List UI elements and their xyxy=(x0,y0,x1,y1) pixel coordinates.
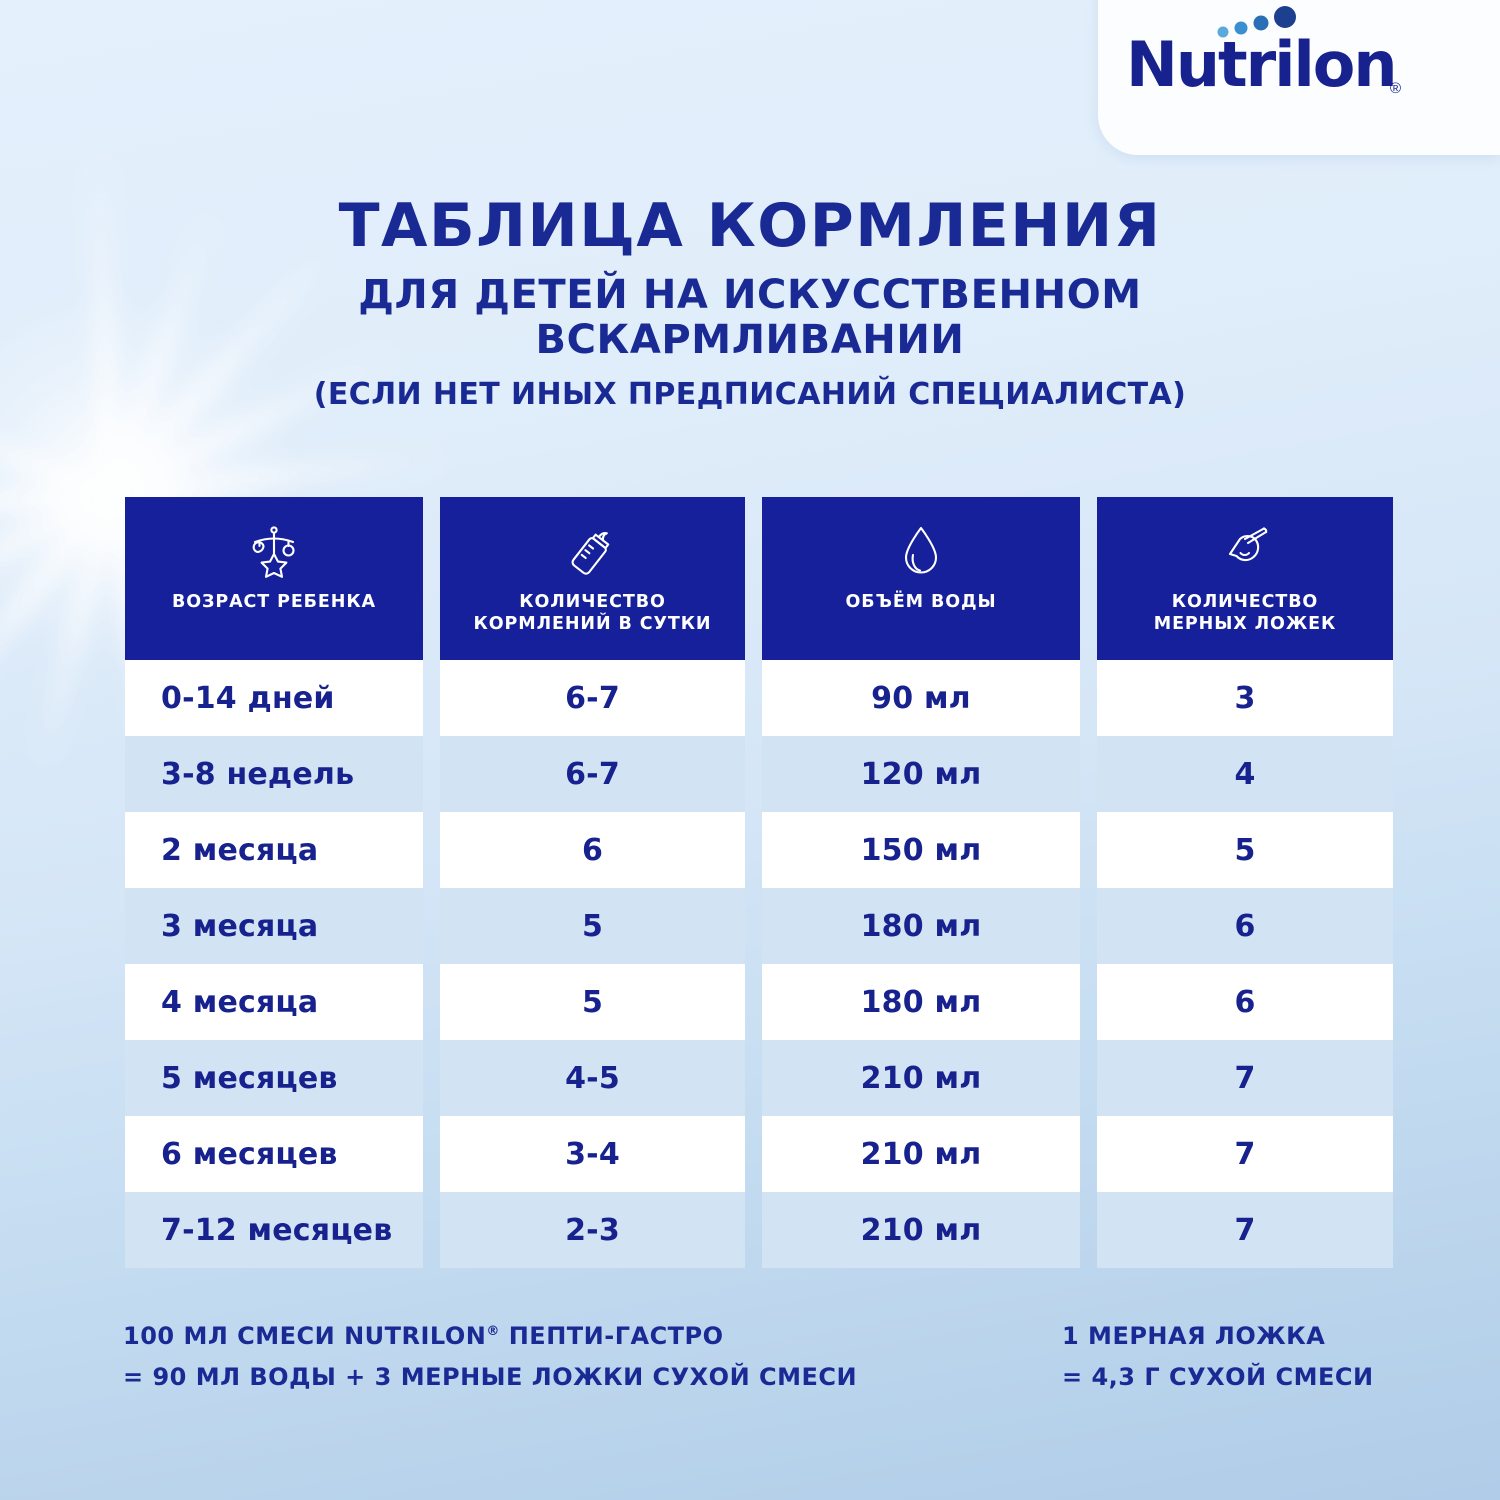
water-drop-icon xyxy=(892,519,950,583)
cell-feedings: 6-7 xyxy=(440,736,745,812)
column-header-feedings-label: КОЛИЧЕСТВО КОРМЛЕНИЙ В СУТКИ xyxy=(474,591,712,636)
cell-water: 150 мл xyxy=(762,812,1080,888)
column-header-water: ОБЪЁМ ВОДЫ xyxy=(762,497,1080,660)
table-row: 6 месяцев3-4210 мл7 xyxy=(125,1116,1376,1192)
cell-age: 2 месяца xyxy=(125,812,423,888)
page-title-note: (ЕСЛИ НЕТ ИНЫХ ПРЕДПИСАНИЙ СПЕЦИАЛИСТА) xyxy=(0,377,1500,412)
baby-bottle-icon xyxy=(564,519,622,583)
feeding-table-infographic: Nutrilon ® ТАБЛИЦА КОРМЛЕНИЯ ДЛЯ ДЕТЕЙ Н… xyxy=(0,0,1500,1500)
cell-feedings: 6-7 xyxy=(440,660,745,736)
cell-age: 6 месяцев xyxy=(125,1116,423,1192)
column-gap xyxy=(423,1116,440,1192)
column-header-water-label: ОБЪЁМ ВОДЫ xyxy=(845,591,996,613)
table-header-row: ВОЗРАСТ РЕБЕНКА xyxy=(125,497,1376,660)
column-gap xyxy=(423,964,440,1040)
footer-left-line1-a: 100 МЛ СМЕСИ NUTRILON xyxy=(123,1322,486,1350)
footer-notes: 100 МЛ СМЕСИ NUTRILON® ПЕПТИ-ГАСТРО = 90… xyxy=(0,1316,1500,1426)
cell-feedings: 2-3 xyxy=(440,1192,745,1268)
table-row: 7-12 месяцев2-3210 мл7 xyxy=(125,1192,1376,1268)
cell-water: 210 мл xyxy=(762,1040,1080,1116)
cell-water: 180 мл xyxy=(762,964,1080,1040)
page-subtitle-line1: ДЛЯ ДЕТЕЙ НА ИСКУССТВЕННОМ xyxy=(0,273,1500,318)
column-gap xyxy=(1080,888,1097,964)
column-gap xyxy=(423,1040,440,1116)
column-gap xyxy=(423,812,440,888)
feeding-table: ВОЗРАСТ РЕБЕНКА xyxy=(125,497,1376,1268)
footer-left-line1-b: ПЕПТИ-ГАСТРО xyxy=(500,1322,724,1350)
cell-scoops: 6 xyxy=(1097,964,1393,1040)
column-header-age: ВОЗРАСТ РЕБЕНКА xyxy=(125,497,423,660)
cell-water: 90 мл xyxy=(762,660,1080,736)
table-row: 3 месяца5180 мл6 xyxy=(125,888,1376,964)
cell-scoops: 7 xyxy=(1097,1040,1393,1116)
column-gap xyxy=(423,1192,440,1268)
column-gap xyxy=(745,1040,762,1116)
column-gap xyxy=(423,660,440,736)
column-gap xyxy=(423,736,440,812)
cell-scoops: 7 xyxy=(1097,1116,1393,1192)
cell-age: 5 месяцев xyxy=(125,1040,423,1116)
page-subtitle-line2: ВСКАРМЛИВАНИИ xyxy=(0,318,1500,363)
cell-scoops: 7 xyxy=(1097,1192,1393,1268)
table-row: 2 месяца6150 мл5 xyxy=(125,812,1376,888)
column-gap xyxy=(745,1116,762,1192)
column-gap xyxy=(1080,1116,1097,1192)
footer-left-line1: 100 МЛ СМЕСИ NUTRILON® ПЕПТИ-ГАСТРО xyxy=(123,1316,857,1357)
cell-age: 0-14 дней xyxy=(125,660,423,736)
column-header-feedings: КОЛИЧЕСТВО КОРМЛЕНИЙ В СУТКИ xyxy=(440,497,745,660)
footer-note-left: 100 МЛ СМЕСИ NUTRILON® ПЕПТИ-ГАСТРО = 90… xyxy=(123,1316,857,1399)
footer-left-registered-mark: ® xyxy=(486,1324,500,1339)
table-row: 4 месяца5180 мл6 xyxy=(125,964,1376,1040)
column-header-age-label: ВОЗРАСТ РЕБЕНКА xyxy=(172,591,376,613)
cell-scoops: 4 xyxy=(1097,736,1393,812)
column-gap xyxy=(1080,812,1097,888)
title-block: ТАБЛИЦА КОРМЛЕНИЯ ДЛЯ ДЕТЕЙ НА ИСКУССТВЕ… xyxy=(0,196,1500,412)
cell-age: 3-8 недель xyxy=(125,736,423,812)
column-gap xyxy=(1080,660,1097,736)
column-gap xyxy=(1080,1192,1097,1268)
cell-scoops: 5 xyxy=(1097,812,1393,888)
brand-registered-mark: ® xyxy=(1390,80,1401,97)
cell-age: 3 месяца xyxy=(125,888,423,964)
page-title: ТАБЛИЦА КОРМЛЕНИЯ xyxy=(0,196,1500,257)
column-gap xyxy=(745,1192,762,1268)
footer-right-line2: = 4,3 Г СУХОЙ СМЕСИ xyxy=(1062,1357,1374,1398)
cell-age: 7-12 месяцев xyxy=(125,1192,423,1268)
footer-left-line2: = 90 МЛ ВОДЫ + 3 МЕРНЫЕ ЛОЖКИ СУХОЙ СМЕС… xyxy=(123,1357,857,1398)
cell-age: 4 месяца xyxy=(125,964,423,1040)
column-gap xyxy=(745,736,762,812)
column-header-scoops-label: КОЛИЧЕСТВО МЕРНЫХ ЛОЖЕК xyxy=(1154,591,1336,636)
column-gap xyxy=(745,964,762,1040)
footer-right-line1: 1 МЕРНАЯ ЛОЖКА xyxy=(1062,1316,1374,1357)
column-gap xyxy=(745,660,762,736)
table-body: 0-14 дней6-790 мл33-8 недель6-7120 мл42 … xyxy=(125,660,1376,1268)
column-gap xyxy=(423,888,440,964)
table-row: 3-8 недель6-7120 мл4 xyxy=(125,736,1376,812)
cell-water: 120 мл xyxy=(762,736,1080,812)
cell-feedings: 6 xyxy=(440,812,745,888)
cell-feedings: 5 xyxy=(440,888,745,964)
cell-scoops: 3 xyxy=(1097,660,1393,736)
column-gap xyxy=(1080,736,1097,812)
brand-logo-panel: Nutrilon ® xyxy=(1098,0,1500,155)
column-gap xyxy=(745,888,762,964)
brand-name: Nutrilon xyxy=(1126,34,1395,96)
cell-water: 180 мл xyxy=(762,888,1080,964)
cell-feedings: 5 xyxy=(440,964,745,1040)
footer-note-right: 1 МЕРНАЯ ЛОЖКА = 4,3 Г СУХОЙ СМЕСИ xyxy=(1062,1316,1374,1399)
cell-water: 210 мл xyxy=(762,1192,1080,1268)
column-gap xyxy=(1080,1040,1097,1116)
cell-water: 210 мл xyxy=(762,1116,1080,1192)
baby-mobile-icon xyxy=(245,519,303,583)
cell-scoops: 6 xyxy=(1097,888,1393,964)
column-gap xyxy=(1080,964,1097,1040)
cell-feedings: 4-5 xyxy=(440,1040,745,1116)
column-header-scoops: КОЛИЧЕСТВО МЕРНЫХ ЛОЖЕК xyxy=(1097,497,1393,660)
cell-feedings: 3-4 xyxy=(440,1116,745,1192)
column-gap xyxy=(745,812,762,888)
measuring-scoop-icon xyxy=(1216,519,1274,583)
table-row: 5 месяцев4-5210 мл7 xyxy=(125,1040,1376,1116)
table-row: 0-14 дней6-790 мл3 xyxy=(125,660,1376,736)
